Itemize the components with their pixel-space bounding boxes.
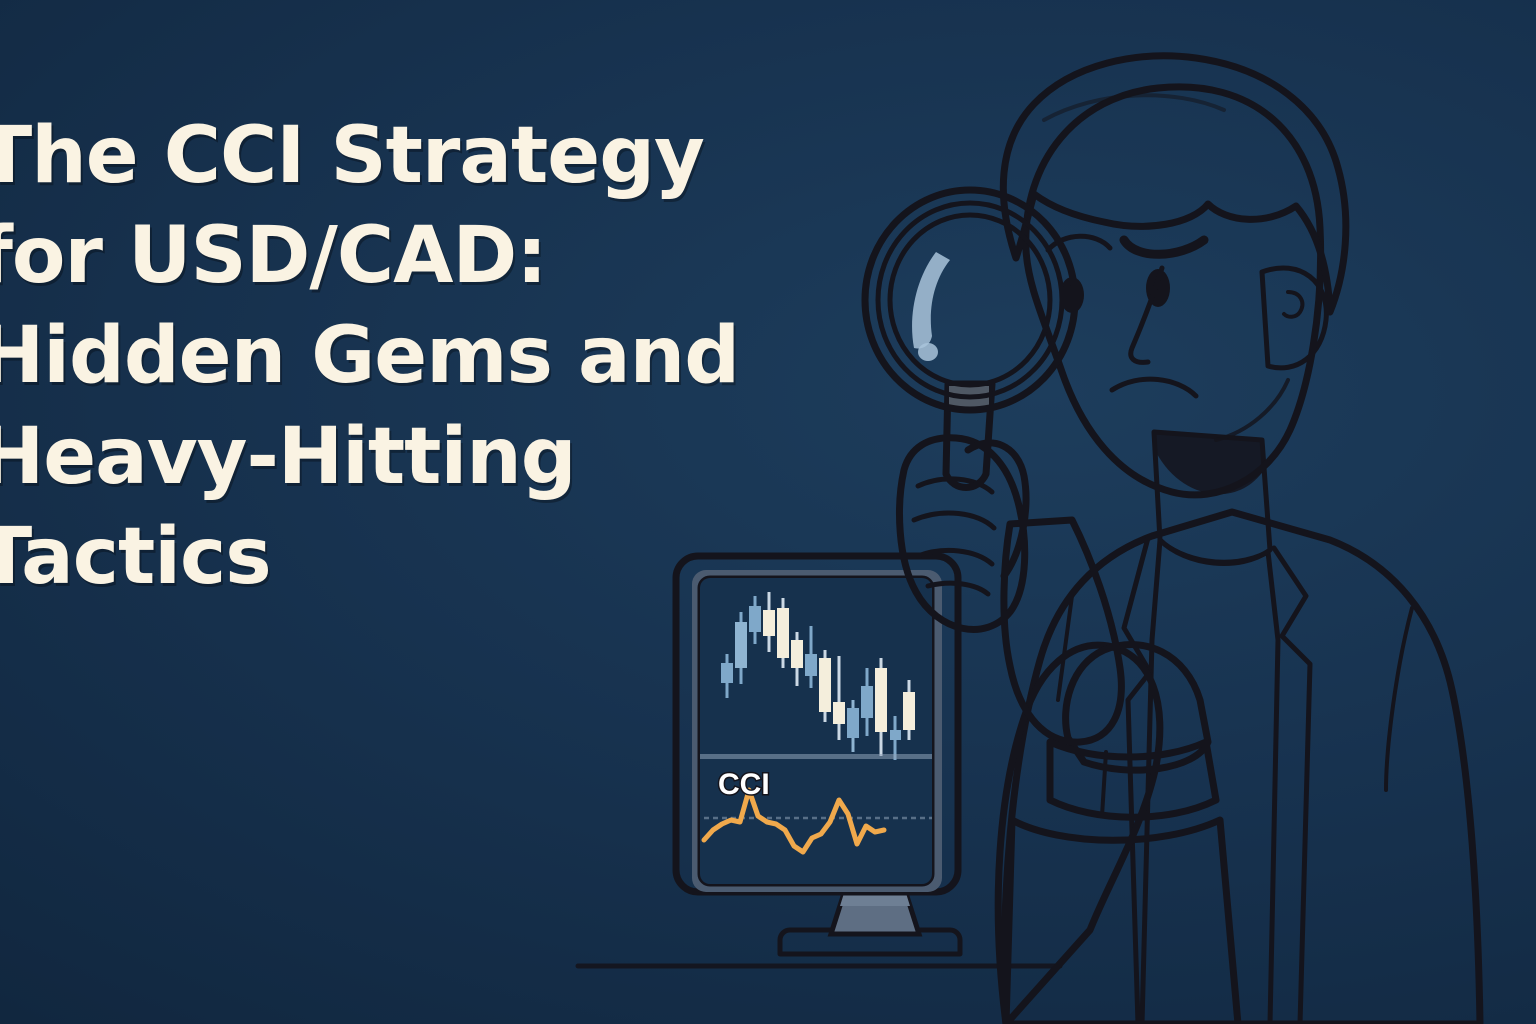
lens-highlight — [912, 252, 950, 349]
screen-content — [700, 578, 932, 884]
illustration-banner: CCI — [0, 0, 1536, 1024]
lens-highlight-dot — [918, 343, 938, 361]
nose — [1131, 268, 1162, 362]
panel-divider — [700, 754, 932, 759]
mouth — [1112, 379, 1196, 396]
person-forearm-left — [998, 520, 1238, 1024]
cci-label: CCI — [718, 768, 770, 801]
monitor: CCI — [676, 556, 960, 954]
person-head — [1003, 56, 1346, 495]
page-title: The CCI Strategy for USD/CAD: Hidden Gem… — [0, 106, 879, 607]
